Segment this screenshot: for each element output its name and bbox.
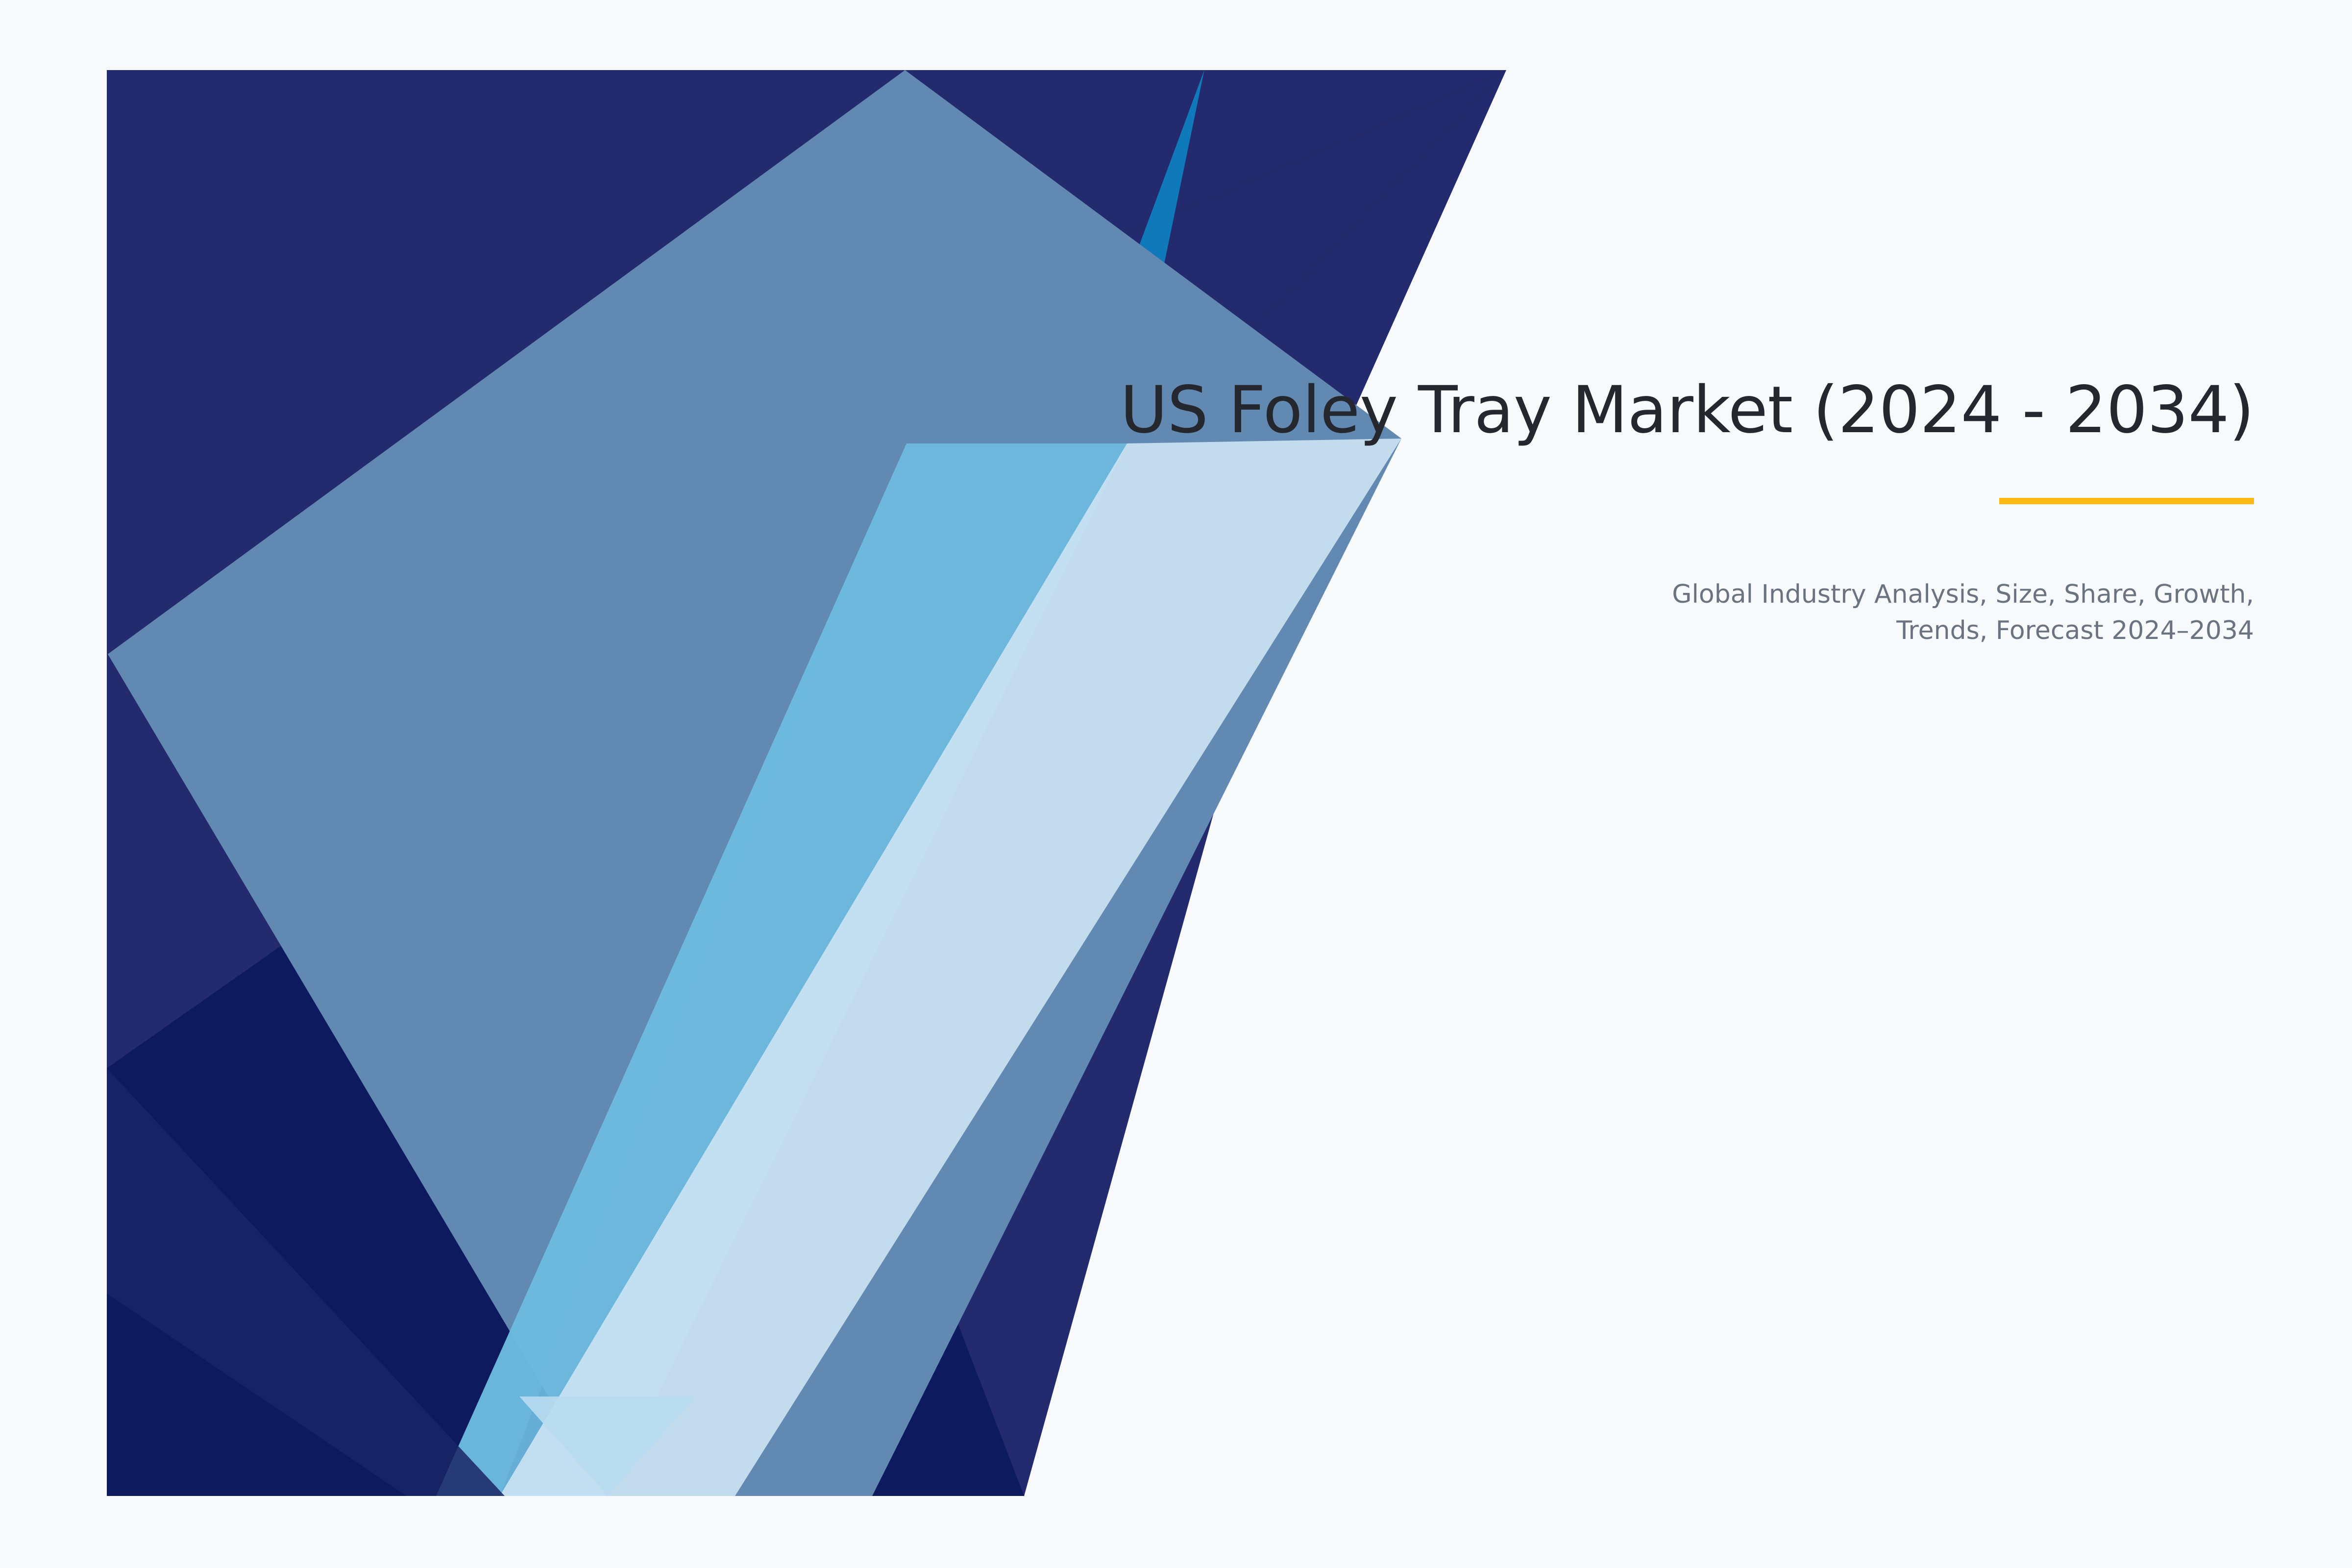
- shape-light-blue-notch: [519, 1396, 696, 1496]
- report-cover: US Foley Tray Market (2024 - 2034) Globa…: [0, 0, 2352, 1568]
- shape-slate-blue-panel: [108, 70, 1401, 1496]
- shape-navy-diagonal-band: [107, 70, 1506, 1496]
- shape-deep-navy-lower-block: [107, 1294, 407, 1496]
- shape-mid-blue-lower-tail: [436, 443, 906, 1496]
- title-accent-rule: [1999, 498, 2254, 504]
- abstract-geometric-cover-graphic: [0, 0, 2352, 1568]
- cover-subtitle: Global Industry Analysis, Size, Share, G…: [1617, 577, 2254, 649]
- page-title: US Foley Tray Market (2024 - 2034): [882, 372, 2254, 449]
- shape-navy-field: [107, 70, 1506, 1496]
- shape-navy-shade-overlay: [107, 1068, 505, 1496]
- shape-deep-navy-chevron: [107, 652, 1024, 1496]
- cover-text-block: US Foley Tray Market (2024 - 2034) Globa…: [882, 372, 2254, 649]
